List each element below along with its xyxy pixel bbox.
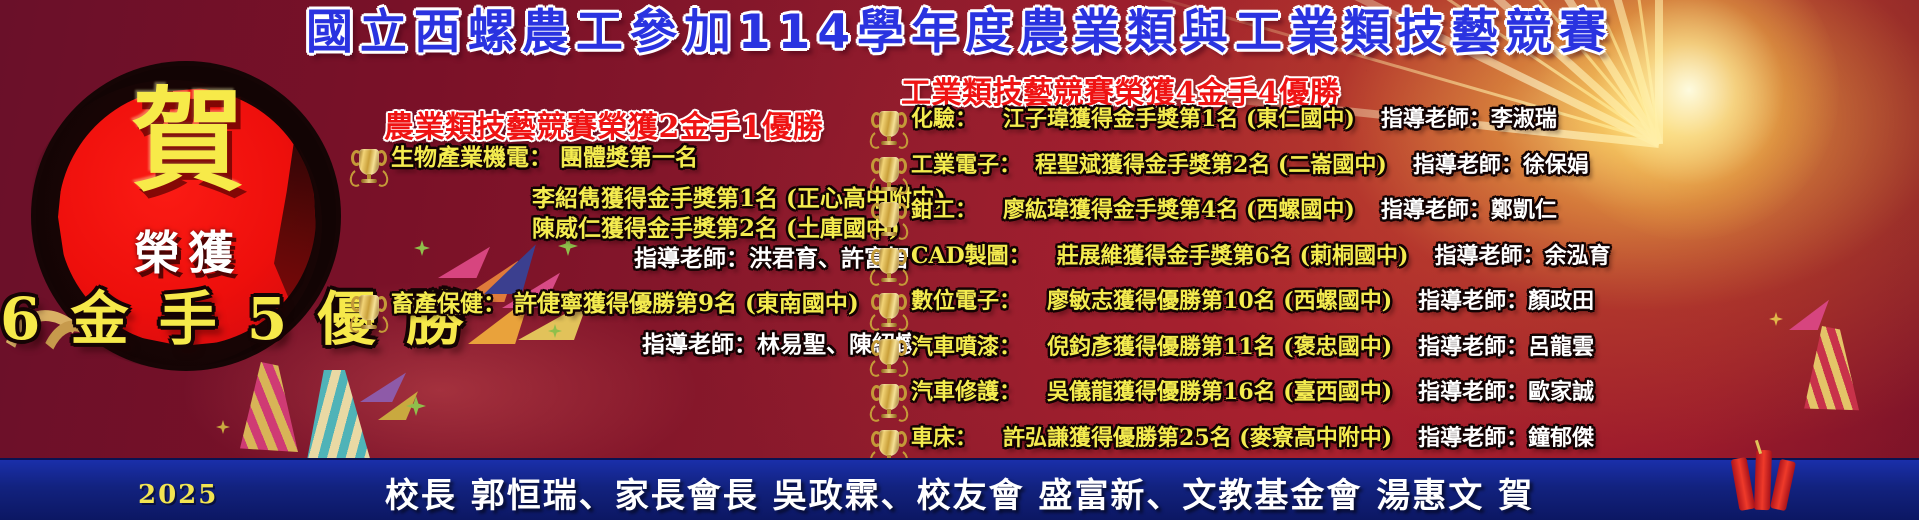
trophy-icon [872, 109, 906, 149]
congratulation-badge: 賀 榮獲 6 金 手 5 優 勝 [8, 62, 368, 422]
table-row: 化驗： 江子瑋獲得金手獎第1名 (東仁國中) 指導老師：李淑瑞 [872, 108, 1912, 149]
table-row: 鉗工： 廖紘瑋獲得金手獎第4名 (西螺國中) 指導老師：鄭凱仁 [872, 199, 1912, 240]
trophy-icon [872, 382, 906, 422]
bottom-credits-text: 校長 郭恒瑞、家長會長 吳政霖、校友會 盛富新、文教基金會 湯惠文 賀 [0, 468, 1919, 517]
agriculture-subject-0: 生物產業機電： 團體獎第一名 [391, 146, 698, 169]
industrial-result-1: 程聖斌獲得金手獎第2名 (二崙國中) [1035, 154, 1387, 176]
industrial-result-0: 江子瑋獲得金手獎第1名 (東仁國中) [1003, 108, 1355, 130]
industrial-subject-5: 汽車噴漆： [911, 336, 1021, 358]
badge-he-character: 賀 [8, 86, 368, 198]
industrial-subject-4: 數位電子： [911, 290, 1021, 312]
industrial-teacher-3: 指導老師：余泓育 [1434, 245, 1610, 267]
table-row: CAD製圖： 莊展維獲得金手獎第6名 (莿桐國中) 指導老師：余泓育 [872, 245, 1912, 286]
industrial-subject-0: 化驗： [911, 108, 977, 130]
industrial-subject-3: CAD製圖： [911, 245, 1031, 267]
firecracker-decoration [1729, 440, 1801, 514]
trophy-icon [352, 293, 386, 333]
list-item: 生物產業機電： 團體獎第一名 李紹雋獲得金手獎第1名 (正心高中附中) 陳威仁獲… [352, 146, 862, 270]
trophy-icon [872, 246, 906, 286]
industrial-teacher-1: 指導老師：徐保娟 [1413, 154, 1589, 176]
industrial-teacher-7: 指導老師：鐘郁傑 [1418, 427, 1594, 449]
industrial-result-6: 吳儀龍獲得優勝第16名 (臺西國中) [1047, 381, 1392, 403]
agriculture-result-0-1: 陳威仁獲得金手獎第2名 (土庫國中) [352, 217, 862, 240]
agriculture-teacher-1: 指導老師：林易聖、陳紹懷 [352, 333, 862, 356]
agriculture-teacher-0: 指導老師：洪君育、許富智 [352, 247, 862, 270]
badge-ronghuo-label: 榮獲 [8, 230, 368, 276]
industrial-teacher-5: 指導老師：呂龍雲 [1418, 336, 1594, 358]
trophy-icon [872, 337, 906, 377]
industrial-subject-7: 車床： [911, 427, 977, 449]
table-row: 數位電子： 廖敏志獲得優勝第10名 (西螺國中) 指導老師：顏政田 [872, 290, 1912, 331]
table-row: 汽車修護： 吳儀龍獲得優勝第16名 (臺西國中) 指導老師：歐家誠 [872, 381, 1912, 422]
industrial-teacher-4: 指導老師：顏政田 [1418, 290, 1594, 312]
agriculture-subject-1: 畜產保健： 許倢寧獲得優勝第9名 (東南國中) [391, 292, 859, 315]
table-row: 汽車噴漆： 倪鈞彥獲得優勝第11名 (褒忠國中) 指導老師：呂龍雲 [872, 336, 1912, 377]
industrial-teacher-6: 指導老師：歐家誠 [1418, 381, 1594, 403]
industrial-result-5: 倪鈞彥獲得優勝第11名 (褒忠國中) [1047, 336, 1392, 358]
page-title: 國立西螺農工參加114學年度農業類與工業類技藝競賽 [0, 9, 1919, 56]
industrial-result-3: 莊展維獲得金手獎第6名 (莿桐國中) [1057, 245, 1409, 267]
industrial-subject-2: 鉗工： [911, 199, 977, 221]
table-row: 工業電子： 程聖斌獲得金手獎第2名 (二崙國中) 指導老師：徐保娟 [872, 154, 1912, 195]
badge-total-awards: 6 金 手 5 優 勝 [0, 290, 390, 348]
trophy-icon [872, 200, 906, 240]
industrial-teacher-2: 指導老師：鄭凱仁 [1381, 199, 1557, 221]
industrial-result-4: 廖敏志獲得優勝第10名 (西螺國中) [1047, 290, 1392, 312]
industrial-result-7: 許弘謙獲得優勝第25名 (麥寮高中附中) [1003, 427, 1392, 449]
trophy-icon [352, 147, 386, 187]
agriculture-result-0-0: 李紹雋獲得金手獎第1名 (正心高中附中) [352, 187, 862, 210]
trophy-icon [872, 291, 906, 331]
industrial-award-list: 化驗： 江子瑋獲得金手獎第1名 (東仁國中) 指導老師：李淑瑞 工業電子： 程聖… [872, 108, 1912, 472]
industrial-result-2: 廖紘瑋獲得金手獎第4名 (西螺國中) [1003, 199, 1355, 221]
bottom-credits-bar: 2025 校長 郭恒瑞、家長會長 吳政霖、校友會 盛富新、文教基金會 湯惠文 賀 [0, 458, 1919, 520]
trophy-icon [872, 155, 906, 195]
industrial-teacher-0: 指導老師：李淑瑞 [1381, 108, 1557, 130]
industrial-subject-1: 工業電子： [911, 154, 1021, 176]
industrial-subject-6: 汽車修護： [911, 381, 1021, 403]
congratulation-banner: 國立西螺農工參加114學年度農業類與工業類技藝競賽 賀 榮獲 6 金 手 5 優… [0, 0, 1919, 520]
list-item: 畜產保健： 許倢寧獲得優勝第9名 (東南國中) 指導老師：林易聖、陳紹懷 [352, 292, 862, 356]
agriculture-award-list: 生物產業機電： 團體獎第一名 李紹雋獲得金手獎第1名 (正心高中附中) 陳威仁獲… [352, 146, 862, 363]
